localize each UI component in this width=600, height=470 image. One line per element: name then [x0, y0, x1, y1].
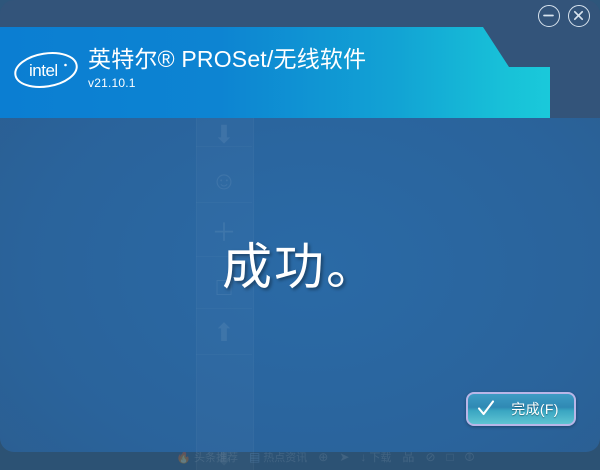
broom-icon: ⊘ [425, 451, 435, 463]
window-icon: □ [447, 451, 454, 463]
download-arrow-icon: ↓ [360, 451, 366, 463]
minimize-button[interactable] [538, 5, 560, 27]
screen: ⬇ 🔥 头条推荐 ▤ 热点资讯 ⊕ ➤ ↓ 下载 品 [0, 0, 600, 470]
grid-icon: 品 [402, 451, 414, 463]
speaker-icon: ⦷ [465, 451, 475, 463]
bg-toolbar-item-cleaner: ⊘ [425, 451, 435, 463]
finish-button-label: 完成(F) [502, 399, 574, 419]
product-version: v21.10.1 [88, 75, 366, 91]
flame-icon: 🔥 [176, 451, 191, 463]
banner-text-group: 英特尔® PROSet/无线软件 v21.10.1 [88, 44, 366, 91]
product-title: 英特尔® PROSet/无线软件 [88, 44, 366, 74]
bg-toolbar-item-volume: ⦷ [465, 451, 475, 463]
window-controls [538, 5, 590, 27]
svg-text:intel: intel [29, 61, 58, 80]
close-circle-icon [569, 6, 588, 25]
bg-toolbar-item-window-mode: □ [447, 451, 454, 463]
bg-toolbar-item-add-circle: ⊕ [318, 451, 328, 463]
success-message: 成功。 [0, 118, 600, 408]
check-icon [476, 399, 496, 419]
close-button[interactable] [568, 5, 590, 27]
finish-button[interactable]: 完成(F) [466, 392, 576, 426]
plus-circle-icon: ⊕ [318, 451, 328, 463]
bg-toolbar-item-apps-grid: 品 [402, 451, 414, 463]
news-card-icon: ▤ [249, 451, 260, 463]
installer-window: intel 英特尔® PROSet/无线软件 v21.10.1 ⬇ ☺ [0, 0, 600, 452]
rocket-icon: ➤ [339, 451, 349, 463]
minus-circle-icon [539, 6, 558, 25]
bg-toolbar-item-speed-boost: ➤ [339, 451, 349, 463]
intel-logo: intel [12, 47, 82, 93]
